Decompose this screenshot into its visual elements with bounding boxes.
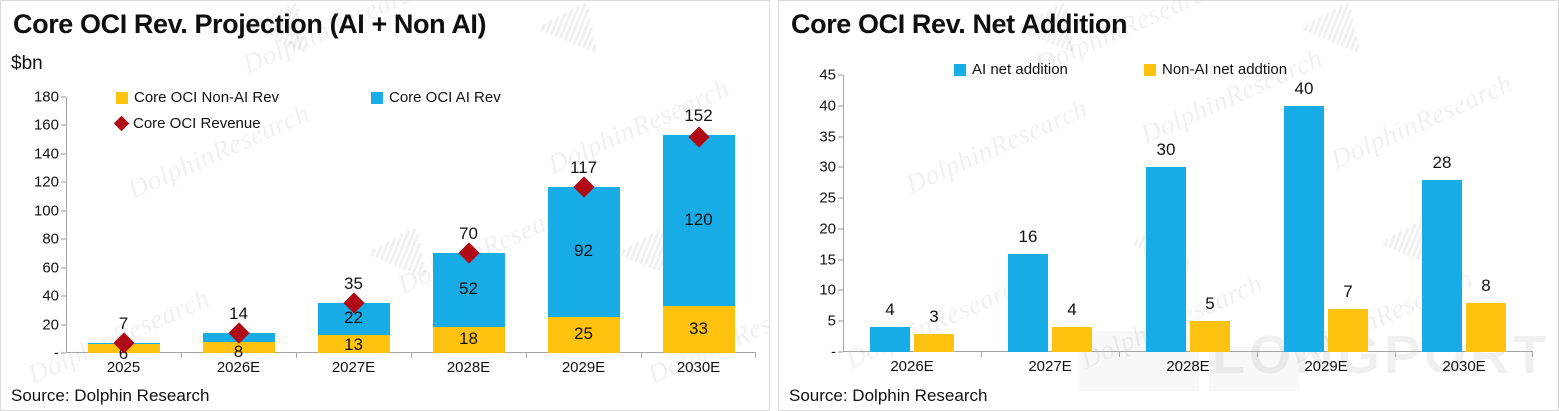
- y-axis-tick-label: 15: [819, 251, 836, 268]
- bar-value-label: 18: [433, 329, 505, 349]
- y-axis-unit-label: $bn: [11, 53, 43, 75]
- y-axis-tick-label: 180: [34, 89, 59, 106]
- plot-area-right: 45403530252015105-43164305407288: [843, 75, 1533, 352]
- y-axis-tick-mark: [838, 136, 843, 137]
- bar-value-label: 16: [996, 227, 1060, 247]
- y-axis-tick-mark: [838, 259, 843, 260]
- bar-segment-ai[interactable]: 120: [663, 135, 735, 306]
- bar-value-label: 13: [318, 335, 390, 355]
- x-axis-tick-label: 2029E: [1257, 358, 1395, 375]
- bar-value-label: 8: [1454, 276, 1518, 296]
- legend-swatch-ai-icon: [954, 64, 966, 76]
- legend-item-non-ai-net-addition[interactable]: Non-AI net addtion: [1144, 61, 1287, 78]
- x-axis-tick-label: 2027E: [981, 358, 1119, 375]
- y-axis-tick-label: 160: [34, 117, 59, 134]
- x-axis-tick-mark: [411, 353, 412, 358]
- y-axis-tick-mark: [838, 198, 843, 199]
- y-axis-tick-mark: [61, 182, 66, 183]
- bar-segment-non-ai[interactable]: 33: [663, 306, 735, 353]
- bar-ai-net-addition[interactable]: [1284, 106, 1324, 352]
- x-axis-category-labels: 2026E2027E2028E2029E2030E: [843, 358, 1533, 375]
- y-axis-tick-label: 35: [819, 128, 836, 145]
- y-axis-tick-mark: [61, 267, 66, 268]
- y-axis-tick-label: 30: [819, 159, 836, 176]
- bar-ai-net-addition[interactable]: [870, 327, 910, 352]
- legend-swatch-non-ai-icon: [116, 92, 128, 104]
- bar-value-label: 92: [548, 241, 620, 261]
- y-axis-tick-label: 10: [819, 282, 836, 299]
- x-axis-tick-label: 2029E: [526, 359, 641, 376]
- page-title: Core OCI Rev. Net Addition: [791, 9, 1127, 40]
- x-axis-tick-label: 2027E: [296, 359, 411, 376]
- x-axis-tick-mark: [526, 353, 527, 358]
- bar-value-label: 120: [663, 210, 735, 230]
- y-axis-tick-label: 20: [819, 220, 836, 237]
- bar-segment-non-ai[interactable]: 13: [318, 335, 390, 353]
- x-axis-tick-mark: [1257, 352, 1258, 357]
- legend-swatch-non-ai-icon: [1144, 64, 1156, 76]
- bar-total-label: 152: [649, 106, 749, 126]
- legend-item-total[interactable]: Core OCI Revenue: [116, 115, 261, 132]
- source-note: Source: Dolphin Research: [11, 386, 209, 406]
- legend-label: Non-AI net addtion: [1162, 61, 1287, 78]
- y-axis-line: [843, 75, 844, 352]
- y-axis-tick-label: 45: [819, 67, 836, 84]
- bar-non-ai-net-addition[interactable]: [1466, 303, 1506, 352]
- x-axis-tick-mark: [1395, 352, 1396, 357]
- y-axis-tick-label: 40: [819, 97, 836, 114]
- y-axis-tick-mark: [61, 324, 66, 325]
- bar-non-ai-net-addition[interactable]: [1052, 327, 1092, 352]
- legend-right: AI net addition Non-AI net addtion: [954, 61, 1374, 83]
- bar-non-ai-net-addition[interactable]: [1328, 309, 1368, 352]
- bar-value-label: 3: [902, 307, 966, 327]
- x-axis-tick-mark: [755, 353, 756, 358]
- bar-value-label: 30: [1134, 140, 1198, 160]
- y-axis-tick-mark: [61, 239, 66, 240]
- y-axis-tick-mark: [61, 153, 66, 154]
- dual-chart-screenshot: DolphinResearch DolphinResearch DolphinR…: [0, 0, 1559, 411]
- y-axis-tick-label: 5: [828, 313, 836, 330]
- legend-swatch-ai-icon: [371, 92, 383, 104]
- y-axis-tick-mark: [838, 228, 843, 229]
- y-axis-tick-label: 80: [42, 231, 59, 248]
- bar-segment-ai[interactable]: 92: [548, 187, 620, 318]
- y-axis-tick-mark: [838, 75, 843, 76]
- watermark-bars-icon: [540, 0, 610, 52]
- y-axis-tick-label: -: [54, 345, 59, 362]
- legend-swatch-revenue-diamond-icon: [114, 116, 130, 132]
- y-axis-tick-label: 120: [34, 174, 59, 191]
- x-axis-tick-mark: [641, 353, 642, 358]
- x-axis-tick-label: 2026E: [843, 358, 981, 375]
- bar-value-label: 5: [1178, 294, 1242, 314]
- bar-value-label: 28: [1410, 153, 1474, 173]
- bar-non-ai-net-addition[interactable]: [914, 334, 954, 352]
- y-axis-tick-mark: [61, 210, 66, 211]
- bar-ai-net-addition[interactable]: [1422, 180, 1462, 352]
- legend-item-non-ai[interactable]: Core OCI Non-AI Rev: [116, 89, 279, 106]
- y-axis-tick-label: 140: [34, 145, 59, 162]
- bar-segment-non-ai[interactable]: 18: [433, 327, 505, 353]
- x-axis-tick-label: 2028E: [411, 359, 526, 376]
- y-axis-tick-label: -: [831, 344, 836, 361]
- bar-value-label: 52: [433, 279, 505, 299]
- y-axis-tick-mark: [61, 125, 66, 126]
- y-axis-tick-mark: [838, 105, 843, 106]
- bar-value-label: 8: [203, 342, 275, 362]
- chart-panel-left: DolphinResearch DolphinResearch DolphinR…: [0, 0, 770, 411]
- bar-value-label: 4: [1040, 300, 1104, 320]
- legend-item-ai[interactable]: Core OCI AI Rev: [371, 89, 501, 106]
- bar-segment-ai[interactable]: 52: [433, 253, 505, 327]
- chart-panel-right: DolphinResearch DolphinResearch DolphinR…: [778, 0, 1559, 411]
- bar-segment-non-ai[interactable]: 25: [548, 317, 620, 353]
- y-axis-tick-label: 20: [42, 316, 59, 333]
- bar-value-label: 7: [1316, 282, 1380, 302]
- bar-total-label: 117: [534, 158, 634, 178]
- y-axis-tick-mark: [838, 321, 843, 322]
- source-note: Source: Dolphin Research: [789, 386, 987, 406]
- x-axis-tick-mark: [296, 353, 297, 358]
- x-axis-tick-mark: [1119, 352, 1120, 357]
- watermark-bars-icon: [1303, 0, 1373, 52]
- y-axis-tick-mark: [61, 296, 66, 297]
- y-axis-tick-mark: [838, 352, 843, 353]
- legend-item-ai-net-addition[interactable]: AI net addition: [954, 61, 1068, 78]
- x-axis-tick-mark: [981, 352, 982, 357]
- y-axis-tick-label: 25: [819, 190, 836, 207]
- y-axis-tick-mark: [838, 290, 843, 291]
- y-axis-tick-mark: [61, 97, 66, 98]
- legend-label: Core OCI Non-AI Rev: [134, 89, 279, 106]
- y-axis-tick-label: 60: [42, 259, 59, 276]
- bar-value-label: 25: [548, 324, 620, 344]
- y-axis-tick-mark: [61, 353, 66, 354]
- bar-value-label: 33: [663, 319, 735, 339]
- x-axis-tick-label: 2030E: [641, 359, 756, 376]
- y-axis-tick-mark: [838, 167, 843, 168]
- page-title: Core OCI Rev. Projection (AI + Non AI): [13, 9, 486, 40]
- y-axis-line: [66, 97, 67, 353]
- x-axis-tick-label: 2028E: [1119, 358, 1257, 375]
- x-axis-tick-mark: [1532, 352, 1533, 357]
- legend-label: Core OCI Revenue: [133, 115, 261, 132]
- legend-left: Core OCI Non-AI Rev Core OCI AI Rev Core…: [116, 89, 636, 137]
- bar-ai-net-addition[interactable]: [1146, 167, 1186, 352]
- y-axis-tick-label: 100: [34, 202, 59, 219]
- legend-label: AI net addition: [972, 61, 1068, 78]
- bar-non-ai-net-addition[interactable]: [1190, 321, 1230, 352]
- x-axis-category-labels: 20252026E2027E2028E2029E2030E: [66, 359, 756, 376]
- y-axis-tick-label: 40: [42, 288, 59, 305]
- legend-label: Core OCI AI Rev: [389, 89, 501, 106]
- x-axis-tick-label: 2030E: [1395, 358, 1533, 375]
- x-axis-tick-mark: [181, 353, 182, 358]
